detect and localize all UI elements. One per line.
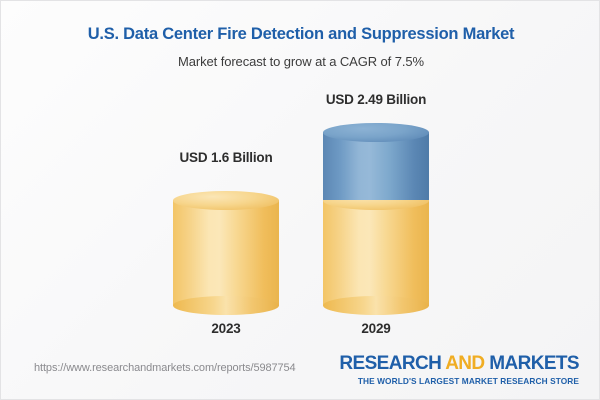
chart-header: U.S. Data Center Fire Detection and Supp… — [1, 1, 600, 69]
bar-segment-base-2029 — [323, 191, 429, 306]
bar-segment-base-2023 — [173, 191, 279, 306]
bar-cylinder-2023 — [173, 191, 279, 306]
page-title: U.S. Data Center Fire Detection and Supp… — [1, 1, 600, 45]
bar-value-label-2029: USD 2.49 Billion — [301, 92, 451, 107]
logo-word-markets: MARKETS — [489, 353, 579, 374]
bar-group-2023: USD 1.6 Billion 2023 — [151, 81, 301, 346]
logo-word-and: AND — [445, 353, 484, 374]
chart-plot-area: USD 1.6 Billion 2023 USD 2.49 Billion — [1, 81, 600, 346]
chart-subtitle: Market forecast to grow at a CAGR of 7.5… — [1, 45, 600, 69]
report-url[interactable]: https://www.researchandmarkets.com/repor… — [34, 362, 296, 374]
bar-value-label-2023: USD 1.6 Billion — [151, 150, 301, 165]
bar-top-ellipse — [173, 191, 279, 210]
bar-cylinder-2029 — [323, 123, 429, 306]
bar-category-label-2029: 2029 — [301, 321, 451, 336]
logo-wordmark: RESEARCH AND MARKETS — [339, 354, 579, 373]
logo-tagline: THE WORLD'S LARGEST MARKET RESEARCH STOR… — [339, 377, 579, 385]
bar-segment-body — [323, 200, 429, 306]
bar-segment-body — [173, 200, 279, 306]
infographic-card: U.S. Data Center Fire Detection and Supp… — [0, 0, 600, 400]
bar-segment-growth-2029 — [323, 123, 429, 200]
bar-bottom-ellipse — [323, 296, 429, 315]
bar-category-label-2023: 2023 — [151, 321, 301, 336]
footer: https://www.researchandmarkets.com/repor… — [1, 344, 600, 399]
bar-group-2029: USD 2.49 Billion 2029 — [301, 81, 451, 346]
research-and-markets-logo[interactable]: RESEARCH AND MARKETS THE WORLD'S LARGEST… — [339, 354, 579, 385]
bar-top-ellipse — [323, 123, 429, 142]
bar-segment-body — [323, 132, 429, 200]
bar-bottom-ellipse — [173, 296, 279, 315]
logo-word-research: RESEARCH — [339, 353, 441, 374]
